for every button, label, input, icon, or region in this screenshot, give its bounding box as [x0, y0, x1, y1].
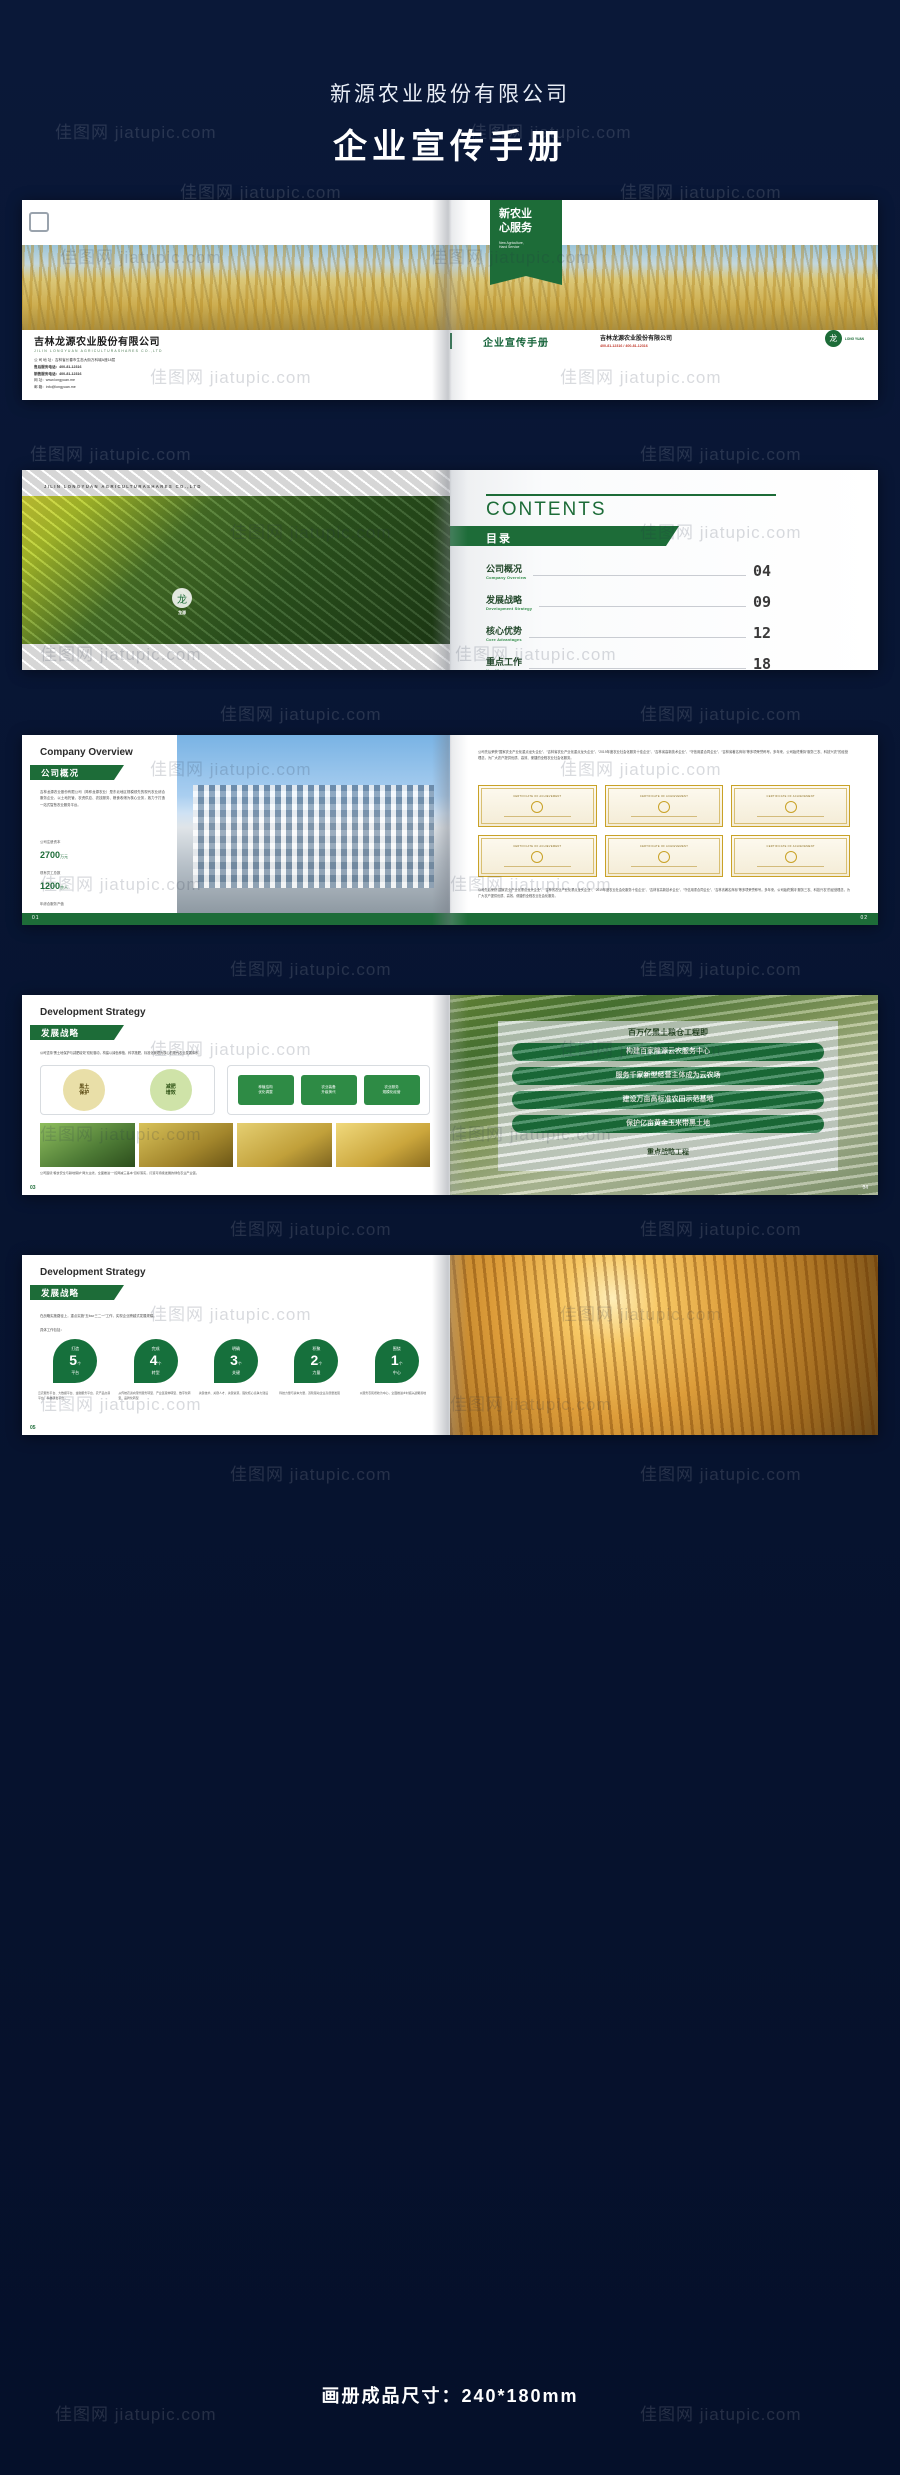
strategy2-steps: 打造 5个 平台 云农服务平台、大数据平台、金融服务平台、农产品交易平台、科技研…	[38, 1339, 434, 1401]
strategy-photo-row	[40, 1123, 430, 1167]
slogan-tag: 新农业 心服务 New Agriculture, Hand Service	[490, 200, 562, 276]
strategy-panel-item: 构建百家隆源云农服务中心	[512, 1043, 824, 1061]
wheat-photo-back	[22, 245, 450, 330]
logo-mark-icon: 龙	[172, 588, 192, 608]
toc-leader-line	[539, 606, 746, 607]
contents-heading-cn: 目录	[486, 530, 512, 546]
header-company-name: 新源农业股份有限公司	[0, 78, 900, 108]
step-desc: 云农服务平台、大数据平台、金融服务平台、农产品交易平台、科技研发平台	[38, 1391, 112, 1401]
certificate-label: CERTIFICATE OF ACHIEVEMENT	[767, 845, 815, 848]
strategy-bubble-fertilizer: 减肥 增效	[150, 1069, 192, 1111]
contact-label: 邮 箱：	[34, 384, 46, 391]
page-number-left: 03	[30, 1185, 36, 1191]
certificates-grid: CERTIFICATE OF ACHIEVEMENT CERTIFICATE O…	[478, 785, 850, 877]
strategy-note: 公司围绕“粮食安全与耕地保护”两大主线，全面推进“一控两减三基本”目标落实，打造…	[40, 1171, 430, 1177]
step-desc: 科技力量与资本力量，双轮驱动企业高质量发展	[279, 1391, 353, 1396]
step-desc: 以服务农民增收为中心，全面推进乡村振兴战略落地	[360, 1391, 434, 1396]
contact-value: 吉林省长春市生态大街万科城A座18层	[55, 357, 115, 364]
step-number: 5	[69, 1352, 77, 1368]
step-label: 中心	[393, 1370, 401, 1376]
step-unit: 个	[399, 1361, 403, 1366]
step-desc: 关键技术、关键人才、关键资源，强化核心竞争力建设	[199, 1391, 273, 1396]
strategy-panel-title: 百万亿黑土粮仓工程即	[512, 1027, 824, 1038]
certificate-label: CERTIFICATE OF ACHIEVEMENT	[640, 795, 688, 798]
overview-body: 吉林龙源农业股份有限公司（简称龙源农业）是东北地区规模领先的现代农业综合服务企业…	[40, 789, 165, 808]
strategy-step: 积聚 2个 力量 科技力量与资本力量，双轮驱动企业高质量发展	[279, 1339, 353, 1401]
toc-page-number: 12	[753, 624, 771, 642]
stat-unit: 余人	[60, 885, 68, 890]
step-number: 3	[230, 1352, 238, 1368]
brand-logo: 龙 LONG YUAN	[825, 330, 864, 347]
contents-right-panel: CONTENTS 目录 公司概况 Company Overview 04 发展战…	[450, 470, 878, 670]
strategy-card: 农业服务 规模化经营	[364, 1075, 420, 1105]
back-company-cn: 吉林龙源农业股份有限公司	[34, 333, 160, 348]
certificate-label: CERTIFICATE OF ACHIEVEMENT	[767, 795, 815, 798]
strategy2-left-page: Development Strategy 发展战略 在战略实施路径上，重点实施“…	[22, 1255, 450, 1435]
toc-label-cn: 发展战略	[486, 593, 532, 606]
page-footer: 画册成品尺寸：240*180mm	[0, 2382, 900, 2408]
contact-label: 售后服务电话：	[34, 364, 59, 371]
toc-page-number: 09	[753, 593, 771, 611]
toc-item-key-work[interactable]: 重点工作 Key Work 18	[486, 655, 771, 670]
contents-heading-en: CONTENTS	[486, 499, 607, 521]
toc-label-en: Key Work	[486, 668, 522, 670]
logo-text: 龙源	[178, 610, 186, 616]
strategy-panel	[498, 1021, 838, 1171]
certificate-label: CERTIFICATE OF ACHIEVEMENT	[640, 845, 688, 848]
page-number-left: 05	[30, 1425, 36, 1431]
contact-value: info@longyuan.me	[46, 384, 76, 391]
strategy2-title-cn: 发展战略	[41, 1287, 79, 1299]
strategy-step: 围绕 1个 中心 以服务农民增收为中心，全面推进乡村振兴战略落地	[360, 1339, 434, 1401]
contact-label: 网 址：	[34, 377, 46, 384]
contact-value: www.longyuan.me	[46, 377, 75, 384]
contact-list: 公 司 地 址：吉林省长春市生态大街万科城A座18层 售后服务电话：400-81…	[34, 357, 163, 391]
certificate-label: CERTIFICATE OF ACHIEVEMENT	[513, 845, 561, 848]
overview-left-footer: 01	[22, 913, 450, 925]
strategy2-right-photo	[450, 1255, 878, 1435]
strategy-step: 明确 3个 关键 关键技术、关键人才、关键资源，强化核心竞争力建设	[199, 1339, 273, 1401]
strategy2-title-en: Development Strategy	[40, 1267, 146, 1278]
aerial-field-photo	[22, 496, 450, 644]
strategy-bubble-soil: 黑土 保护	[63, 1069, 105, 1111]
toc-item-core-advantages[interactable]: 核心优势 Core Advantages 12	[486, 624, 771, 642]
step-unit: 个	[77, 1361, 81, 1366]
toc-leader-line	[529, 668, 746, 669]
step-unit: 个	[238, 1361, 242, 1366]
spine-title-block: 企业宣传手册	[450, 333, 580, 349]
toc-leader-line	[533, 575, 746, 576]
headquarters-photo	[177, 735, 450, 913]
overview-right-note: 公司先后荣获“国家农业产业化重点龙头企业”、“吉林省农业产业化重点龙头企业”、“…	[478, 887, 850, 899]
contact-value: 400-81-12316	[59, 371, 81, 378]
strategy-panel-footer: 重点战略工程	[512, 1147, 824, 1157]
strategy-intro: 公司坚持“黑土地保护与减肥增效”双轮驱动，构建以绿色种植、科学施肥、标准化管理为…	[40, 1051, 430, 1057]
contents-heading-cn-bar: 目录	[450, 526, 666, 546]
logo-mark-icon: 龙	[825, 330, 842, 347]
toc-leader-line	[529, 637, 746, 638]
strategy-left-page: Development Strategy 发展战略 公司坚持“黑土地保护与减肥增…	[22, 995, 450, 1195]
toc-label-cn: 重点工作	[486, 655, 522, 668]
footer-size-note: 画册成品尺寸：240*180mm	[0, 2382, 900, 2408]
strategy2-title-cn-bar: 发展战略	[30, 1285, 114, 1300]
overview-right-body: 公司先后荣获“国家农业产业化重点龙头企业”、“吉林省农业产业化重点龙头企业”、“…	[478, 749, 848, 762]
toc-page-number: 18	[753, 655, 771, 670]
step-badge: 积聚 2个 力量	[294, 1339, 338, 1383]
front-company-block: 吉林龙源农业股份有限公司 400-81-12316 / 400-81-12316	[600, 333, 672, 348]
contact-label: 公 司 地 址：	[34, 357, 55, 364]
logo-en: LONG YUAN	[845, 337, 864, 341]
strategy-photo	[336, 1123, 431, 1167]
front-company-name: 吉林龙源农业股份有限公司	[600, 333, 672, 342]
contents-list: 公司概况 Company Overview 04 发展战略 Developmen…	[486, 562, 771, 670]
step-label: 关键	[232, 1370, 240, 1376]
step-unit: 个	[157, 1361, 161, 1366]
stat-label: 现有员工总数	[40, 870, 170, 875]
toc-label-en: Core Advantages	[486, 637, 522, 642]
stat-unit: 万元	[60, 854, 68, 859]
page-number-right: 02	[860, 915, 868, 921]
certificate-item: CERTIFICATE OF ACHIEVEMENT	[731, 835, 850, 877]
slogan-en-line2: Hand Service	[499, 245, 562, 249]
strategy-right-page: 百万亿黑土粮仓工程即 构建百家隆源云农服务中心 服务千家新型经营主体成为云农场 …	[450, 995, 878, 1195]
step-unit: 个	[318, 1361, 322, 1366]
cover-back-panel: 吉林龙源农业股份有限公司 JILIN LONGYUAN AGRICULTURAS…	[22, 200, 450, 400]
toc-label-en: Development Strategy	[486, 606, 532, 611]
strategy-panel-item: 建设万亩高标准农田示范基地	[512, 1091, 824, 1109]
certificate-label: CERTIFICATE OF ACHIEVEMENT	[513, 795, 561, 798]
toc-page-number: 04	[753, 562, 771, 580]
page-title: 企业宣传手册	[0, 119, 900, 168]
step-badge: 完成 4个 转型	[134, 1339, 178, 1383]
spread-development-strategy: Development Strategy 发展战略 公司坚持“黑土地保护与减肥增…	[22, 995, 878, 1195]
step-badge: 明确 3个 关键	[214, 1339, 258, 1383]
stat-label: 年综合服务产值	[40, 901, 170, 906]
strategy-title-en: Development Strategy	[40, 1007, 146, 1018]
toc-label-cn: 核心优势	[486, 624, 522, 637]
strategy-title-cn-bar: 发展战略	[30, 1025, 114, 1040]
overview-title-cn-bar: 公司概况	[30, 765, 114, 780]
strategy-panel-item: 服务千家新型经营主体成为云农场	[512, 1067, 824, 1085]
step-desc: 从传统农资向现代服务转型、产业链延伸转型、数字化转型、品牌化转型	[118, 1391, 192, 1401]
step-label: 转型	[152, 1370, 160, 1376]
strategy2-subintro: 具体工作包括：	[40, 1327, 64, 1332]
strategy-card: 农业装备 升级换代	[301, 1075, 357, 1105]
stat-value: 1200	[40, 881, 60, 891]
strategy-photo	[40, 1123, 135, 1167]
certificate-item: CERTIFICATE OF ACHIEVEMENT	[605, 835, 724, 877]
contents-left-panel: JILIN LONGYUAN AGRICULTURASHARES CO.,LTD…	[22, 470, 450, 670]
spread-company-overview: Company Overview 公司概况 吉林龙源农业股份有限公司（简称龙源农…	[22, 735, 878, 925]
spread-development-strategy-2: Development Strategy 发展战略 在战略实施路径上，重点实施“…	[22, 1255, 878, 1435]
crop-mark-icon	[29, 212, 49, 232]
contents-rule	[486, 494, 776, 496]
page-number-left: 01	[32, 915, 40, 921]
strategy-step: 打造 5个 平台 云农服务平台、大数据平台、金融服务平台、农产品交易平台、科技研…	[38, 1339, 112, 1401]
page-number-right: 04	[862, 1185, 868, 1191]
slogan-line2: 心服务	[499, 222, 562, 236]
strategy-panel-items: 构建百家隆源云农服务中心 服务千家新型经营主体成为云农场 建设万亩高标准农田示范…	[512, 1043, 824, 1139]
spread-cover: 吉林龙源农业股份有限公司 JILIN LONGYUAN AGRICULTURAS…	[22, 200, 878, 400]
strategy-panel-item: 保护亿亩黄金玉米带黑土地	[512, 1115, 824, 1133]
contents-logo: 龙 龙源	[172, 588, 192, 616]
stat-value: 2700	[40, 850, 60, 860]
back-company-en: JILIN LONGYUAN AGRICULTURASHARES CO.,LTD	[34, 349, 163, 353]
spine-title: 企业宣传手册	[483, 334, 549, 349]
toc-item-company-overview[interactable]: 公司概况 Company Overview 04	[486, 562, 771, 580]
page-header: 新源农业股份有限公司 企业宣传手册	[0, 78, 900, 168]
overview-title-en: Company Overview	[40, 747, 133, 758]
slogan-line1: 新农业	[499, 208, 562, 222]
contact-value: 400-81-12316	[59, 364, 81, 371]
strategy-photo	[237, 1123, 332, 1167]
strategy-card-group: 种植结构 优化调整 农业装备 升级换代 农业服务 规模化经营	[227, 1065, 430, 1115]
strategy-step: 完成 4个 转型 从传统农资向现代服务转型、产业链延伸转型、数字化转型、品牌化转…	[118, 1339, 192, 1401]
overview-right-footer: 02	[450, 913, 878, 925]
certificate-item: CERTIFICATE OF ACHIEVEMENT	[605, 785, 724, 827]
overview-left-page: Company Overview 公司概况 吉林龙源农业股份有限公司（简称龙源农…	[22, 735, 450, 925]
strategy-photo	[139, 1123, 234, 1167]
cover-front-panel: 新农业 心服务 New Agriculture, Hand Service 企业…	[450, 200, 878, 400]
spread-contents: JILIN LONGYUAN AGRICULTURASHARES CO.,LTD…	[22, 470, 878, 670]
certificate-item: CERTIFICATE OF ACHIEVEMENT	[478, 835, 597, 877]
step-number: 1	[391, 1352, 399, 1368]
strategy-bubble-group: 黑土 保护 减肥 增效	[40, 1065, 215, 1115]
step-label: 平台	[71, 1370, 79, 1376]
step-badge: 围绕 1个 中心	[375, 1339, 419, 1383]
strategy-card: 种植结构 优化调整	[238, 1075, 294, 1105]
step-label: 力量	[312, 1370, 320, 1376]
certificate-item: CERTIFICATE OF ACHIEVEMENT	[731, 785, 850, 827]
toc-label-cn: 公司概况	[486, 562, 526, 575]
contact-label: 销售服务电话：	[34, 371, 59, 378]
strategy2-intro: 在战略实施路径上，重点实施“五four三二一”工作，实现企业跨越式发展规模。	[40, 1313, 430, 1319]
overview-title-cn: 公司概况	[41, 767, 79, 779]
front-phone: 400-81-12316 / 400-81-12316	[600, 344, 672, 348]
toc-item-development-strategy[interactable]: 发展战略 Development Strategy 09	[486, 593, 771, 611]
certificate-item: CERTIFICATE OF ACHIEVEMENT	[478, 785, 597, 827]
toc-label-en: Company Overview	[486, 575, 526, 580]
stat-label: 公司注册资本	[40, 839, 170, 844]
overview-right-page: 公司先后荣获“国家农业产业化重点龙头企业”、“吉林省农业产业化重点龙头企业”、“…	[450, 735, 878, 925]
step-badge: 打造 5个 平台	[53, 1339, 97, 1383]
strategy-title-cn: 发展战略	[41, 1027, 79, 1039]
